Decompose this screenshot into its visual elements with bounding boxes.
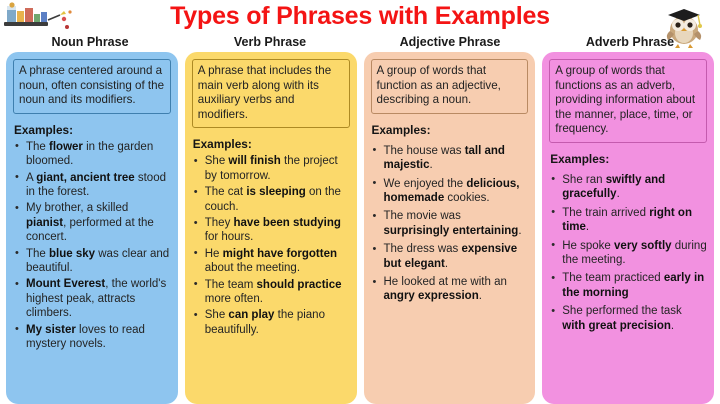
definition-adjective-phrase: A group of words that function as an adj… [371, 59, 529, 114]
example-item: She will finish the project by tomorrow. [192, 154, 350, 183]
card-adverb-phrase: A group of words that functions as an ad… [542, 52, 714, 404]
example-highlight: should practice [257, 279, 342, 291]
example-item: The flower in the garden bloomed. [13, 140, 171, 169]
example-highlight: might have forgotten [223, 248, 337, 260]
column-header-adjective-phrase: Adjective Phrase [360, 33, 540, 52]
example-item: He looked at me with an angry expression… [371, 275, 529, 304]
example-highlight: surprisingly entertaining [384, 225, 519, 237]
definition-noun-phrase: A phrase centered around a noun, often c… [13, 59, 171, 114]
example-highlight: Mount Everest [26, 278, 105, 290]
examples-list-adjective-phrase: The house was tall and majestic.We enjoy… [371, 144, 529, 304]
example-item: The team should practice more often. [192, 278, 350, 307]
examples-label-noun-phrase: Examples: [14, 123, 171, 137]
definition-adverb-phrase: A group of words that functions as an ad… [549, 59, 707, 143]
card-verb-phrase: A phrase that includes the main verb alo… [185, 52, 357, 404]
example-item: He spoke very softly during the meeting. [549, 239, 707, 268]
example-item: The dress was expensive but elegant. [371, 242, 529, 271]
examples-label-adverb-phrase: Examples: [550, 152, 707, 166]
card-noun-phrase: A phrase centered around a noun, often c… [6, 52, 178, 404]
example-highlight: blue sky [49, 248, 95, 260]
definition-verb-phrase: A phrase that includes the main verb alo… [192, 59, 350, 128]
example-highlight: very softly [614, 240, 672, 252]
example-item: We enjoyed the delicious, homemade cooki… [371, 177, 529, 206]
example-highlight: flower [49, 141, 83, 153]
example-item: My sister loves to read mystery novels. [13, 323, 171, 352]
example-highlight: can play [228, 309, 274, 321]
example-highlight: angry expression [384, 290, 479, 302]
examples-label-adjective-phrase: Examples: [372, 123, 529, 137]
example-item: He might have forgotten about the meetin… [192, 247, 350, 276]
example-item: She can play the piano beautifully. [192, 308, 350, 337]
example-highlight: giant, ancient tree [36, 172, 134, 184]
examples-list-adverb-phrase: She ran swiftly and gracefully.The train… [549, 173, 707, 333]
card-adjective-phrase: A group of words that function as an adj… [364, 52, 536, 404]
example-highlight: My sister [26, 324, 76, 336]
page-header: Types of Phrases with Examples [0, 0, 720, 33]
example-item: The movie was surprisingly entertaining. [371, 209, 529, 238]
column-header-noun-phrase: Noun Phrase [0, 33, 180, 52]
examples-label-verb-phrase: Examples: [193, 137, 350, 151]
page-title: Types of Phrases with Examples [0, 1, 720, 31]
phrase-card-row: A phrase centered around a noun, often c… [0, 52, 720, 404]
examples-list-noun-phrase: The flower in the garden bloomed.A giant… [13, 140, 171, 352]
example-highlight: with great precision [562, 320, 671, 332]
example-item: A giant, ancient tree stood in the fores… [13, 171, 171, 200]
example-item: She ran swiftly and gracefully. [549, 173, 707, 202]
example-highlight: is sleeping [246, 186, 305, 198]
example-item: The house was tall and majestic. [371, 144, 529, 173]
example-highlight: pianist [26, 217, 63, 229]
example-item: My brother, a skilled pianist, performed… [13, 201, 171, 244]
example-item: The team practiced early in the morning [549, 271, 707, 300]
column-header-adverb-phrase: Adverb Phrase [540, 33, 720, 52]
example-highlight: will finish [228, 155, 280, 167]
example-item: They have been studying for hours. [192, 216, 350, 245]
example-item: The cat is sleeping on the couch. [192, 185, 350, 214]
infographic-page: Types of Phrases with Examples [0, 0, 720, 404]
example-highlight: have been studying [234, 217, 341, 229]
example-item: She performed the task with great precis… [549, 304, 707, 333]
example-item: Mount Everest, the world's highest peak,… [13, 277, 171, 320]
example-item: The blue sky was clear and beautiful. [13, 247, 171, 276]
column-header-row: Noun Phrase Verb Phrase Adjective Phrase… [0, 33, 720, 52]
column-header-verb-phrase: Verb Phrase [180, 33, 360, 52]
examples-list-verb-phrase: She will finish the project by tomorrow.… [192, 154, 350, 337]
example-item: The train arrived right on time. [549, 206, 707, 235]
